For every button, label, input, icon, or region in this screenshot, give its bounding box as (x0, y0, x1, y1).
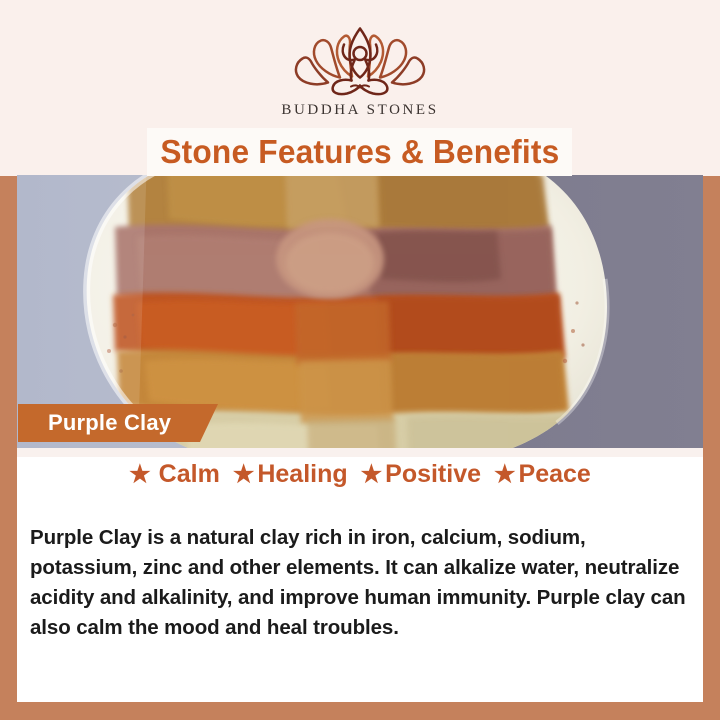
brand-name: BUDDHA STONES (0, 102, 720, 119)
star-icon: ★ (494, 463, 516, 487)
frame-bottom-border (0, 702, 720, 720)
content-section: ★ Calm ★ Healing ★ Positive ★ Peace Purp… (17, 448, 703, 702)
star-icon: ★ (361, 463, 383, 487)
benefit-item-calm: ★ Calm (129, 460, 220, 489)
benefit-item-healing: ★ Healing (233, 460, 348, 489)
benefit-item-peace: ★ Peace (494, 460, 591, 489)
stone-name-label: Purple Clay (48, 410, 171, 436)
star-icon: ★ (129, 463, 151, 487)
benefit-label: Positive (385, 460, 481, 489)
star-icon: ★ (233, 463, 255, 487)
benefit-label: Calm (159, 460, 220, 489)
benefit-label: Peace (519, 460, 591, 489)
content-top-tint (17, 448, 703, 457)
title-banner: Stone Features & Benefits (147, 128, 572, 176)
stone-name-tag: Purple Clay (18, 404, 218, 442)
benefits-row: ★ Calm ★ Healing ★ Positive ★ Peace (17, 460, 703, 489)
frame-left-border (0, 170, 17, 720)
benefit-item-positive: ★ Positive (361, 460, 481, 489)
benefit-label: Healing (257, 460, 347, 489)
page-title: Stone Features & Benefits (160, 133, 559, 171)
brand-logo: BUDDHA STONES (0, 22, 720, 119)
stone-description: Purple Clay is a natural clay rich in ir… (30, 523, 690, 643)
infographic-page: BUDDHA STONES Stone Features & Benefits (0, 0, 720, 720)
lotus-meditation-icon (285, 22, 435, 98)
